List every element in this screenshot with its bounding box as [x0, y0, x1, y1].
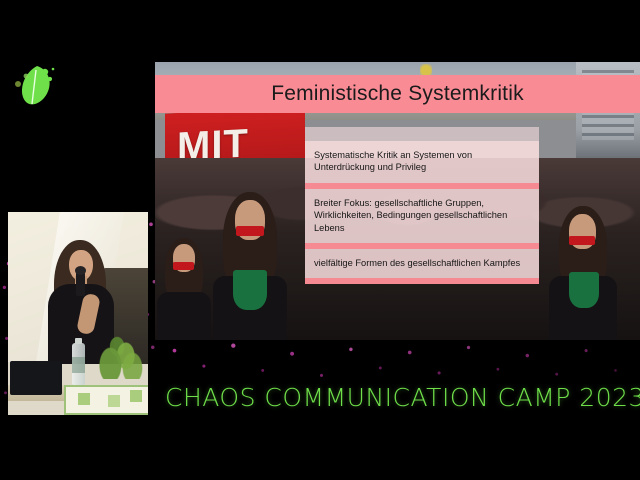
- water-bottle: [72, 343, 85, 385]
- bullet-separator-3: [305, 278, 539, 284]
- protester-right: [547, 200, 621, 340]
- event-wordmark: CHAOS COMMUNICATION CAMP 2023: [165, 383, 640, 412]
- protester-left: [157, 220, 213, 340]
- laptop: [10, 361, 62, 395]
- camp-leaf-logo: [12, 60, 62, 120]
- letterbox-bottom: [0, 422, 640, 480]
- letterbox-top: [0, 0, 640, 30]
- slide-bullet-list: Systematische Kritik an Systemen von Unt…: [305, 127, 539, 284]
- lower-third-banner: CHAOS COMMUNICATION CAMP 2023: [155, 375, 640, 419]
- speaker-camera-feed: [8, 212, 148, 415]
- bullet-item-3: vielfältige Formen des gesellschaftliche…: [305, 249, 539, 278]
- potted-plant: [96, 311, 144, 379]
- stream-canvas: MIT: [0, 0, 640, 480]
- presentation-slide: MIT: [155, 62, 640, 340]
- stage-sign: [64, 385, 148, 415]
- slide-title-band: Feministische Systemkritik: [155, 75, 640, 113]
- protester-center: [207, 192, 293, 340]
- bullet-item-1: Systematische Kritik an Systemen von Unt…: [305, 141, 539, 183]
- page-title: Feministische Systemkritik: [271, 82, 524, 106]
- bullet-item-2: Breiter Fokus: gesellschaftliche Gruppen…: [305, 189, 539, 243]
- microphone-icon: [76, 270, 85, 296]
- bullet-top-pad: [305, 127, 539, 141]
